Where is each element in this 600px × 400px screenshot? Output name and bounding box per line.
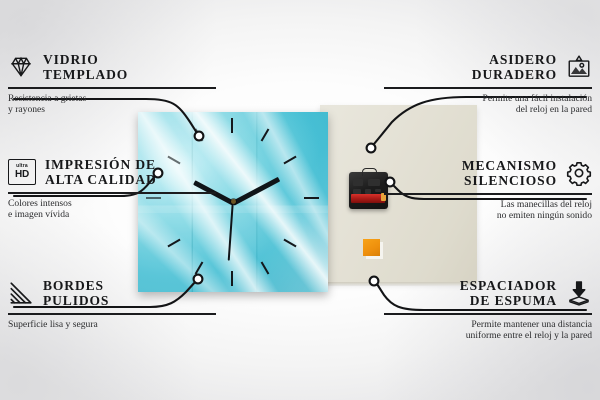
leader-dot-espaciador: [370, 277, 379, 286]
feature-description-line1: Las manecillas del reloj: [384, 199, 592, 211]
feature-divider: [384, 193, 592, 195]
movement-vent: [375, 189, 381, 192]
diamond-icon: [8, 54, 34, 80]
feature-impresion-alta-calidad: ultra HD IMPRESIÓN DE ALTA CALIDAD Color…: [8, 155, 216, 221]
clock-tick: [261, 261, 270, 274]
clock-second-hand: [228, 203, 234, 261]
feature-description-line2: uniforme entre el reloj y la pared: [384, 330, 592, 342]
clock-tick: [283, 239, 296, 248]
feature-description-line1: Permite una fácil instalación: [384, 93, 592, 105]
feature-divider: [384, 87, 592, 89]
feature-heading: BORDES PULIDOS: [8, 276, 216, 310]
leader-dot-vidrio-templado: [195, 132, 204, 141]
movement-vent: [353, 189, 361, 194]
feature-title: BORDES PULIDOS: [43, 278, 109, 308]
feature-divider: [8, 313, 216, 315]
clock-tick: [261, 128, 270, 141]
feature-description-line1: Permite mantener una distancia: [384, 319, 592, 331]
feature-title: ESPACIADOR DE ESPUMA: [460, 278, 557, 308]
infographic-canvas: VIDRIO TEMPLADO Resistencia a grietas y …: [0, 0, 600, 400]
ultra-hd-icon: ultra HD: [8, 159, 36, 185]
foam-spacer: [363, 239, 380, 256]
clock-tick: [283, 156, 296, 165]
feature-asidero-duradero: ASIDERO DURADERO Permite una fácil insta…: [384, 50, 592, 116]
clock-tick: [304, 197, 319, 199]
feature-mecanismo-silencioso: MECANISMO SILENCIOSO Las manecillas del …: [384, 156, 592, 222]
feature-description-line1: Colores intensos: [8, 198, 216, 210]
feature-description-line2: e imagen vívida: [8, 209, 216, 221]
feature-divider: [384, 313, 592, 315]
gear-icon: [566, 160, 592, 186]
feature-title: ASIDERO DURADERO: [472, 52, 557, 82]
feature-espaciador-de-espuma: ESPACIADOR DE ESPUMA Permite mantener un…: [384, 276, 592, 342]
feature-divider: [8, 192, 216, 194]
movement-battery: [351, 194, 385, 203]
movement-vent: [353, 179, 363, 186]
feature-heading: VIDRIO TEMPLADO: [8, 50, 216, 84]
feature-heading: ultra HD IMPRESIÓN DE ALTA CALIDAD: [8, 155, 216, 189]
quartz-movement: [349, 172, 388, 209]
clock-tick: [231, 118, 233, 133]
feature-title: IMPRESIÓN DE ALTA CALIDAD: [45, 157, 157, 187]
clock-tick: [167, 239, 180, 248]
framed-picture-icon: [566, 54, 592, 80]
feature-description-line2: y rayones: [8, 104, 216, 116]
leader-dot-asidero: [367, 144, 376, 153]
feature-description-line2: no emiten ningún sonido: [384, 210, 592, 222]
clock-tick: [195, 261, 204, 274]
polished-edge-icon: [8, 280, 34, 306]
feature-title: VIDRIO TEMPLADO: [43, 52, 128, 82]
clock-tick: [195, 128, 204, 141]
feature-title: MECANISMO SILENCIOSO: [462, 158, 557, 188]
feature-heading: ESPACIADOR DE ESPUMA: [384, 276, 592, 310]
feature-bordes-pulidos: BORDES PULIDOS Superficie lisa y segura: [8, 276, 216, 330]
feature-description-line1: Superficie lisa y segura: [8, 319, 216, 331]
feature-description-line2: del reloj en la pared: [384, 104, 592, 116]
movement-hanger: [362, 168, 377, 176]
ultra-hd-icon-big-text: HD: [15, 170, 29, 180]
feature-divider: [8, 87, 216, 89]
down-arrow-pad-icon: [566, 280, 592, 306]
clock-center-hub: [231, 199, 236, 204]
clock-minute-hand: [232, 177, 280, 205]
movement-vent: [368, 179, 380, 186]
feature-heading: MECANISMO SILENCIOSO: [384, 156, 592, 190]
feature-heading: ASIDERO DURADERO: [384, 50, 592, 84]
movement-vent: [365, 189, 371, 194]
feature-description-line1: Resistencia a grietas: [8, 93, 216, 105]
clock-tick: [231, 271, 233, 286]
feature-vidrio-templado: VIDRIO TEMPLADO Resistencia a grietas y …: [8, 50, 216, 116]
